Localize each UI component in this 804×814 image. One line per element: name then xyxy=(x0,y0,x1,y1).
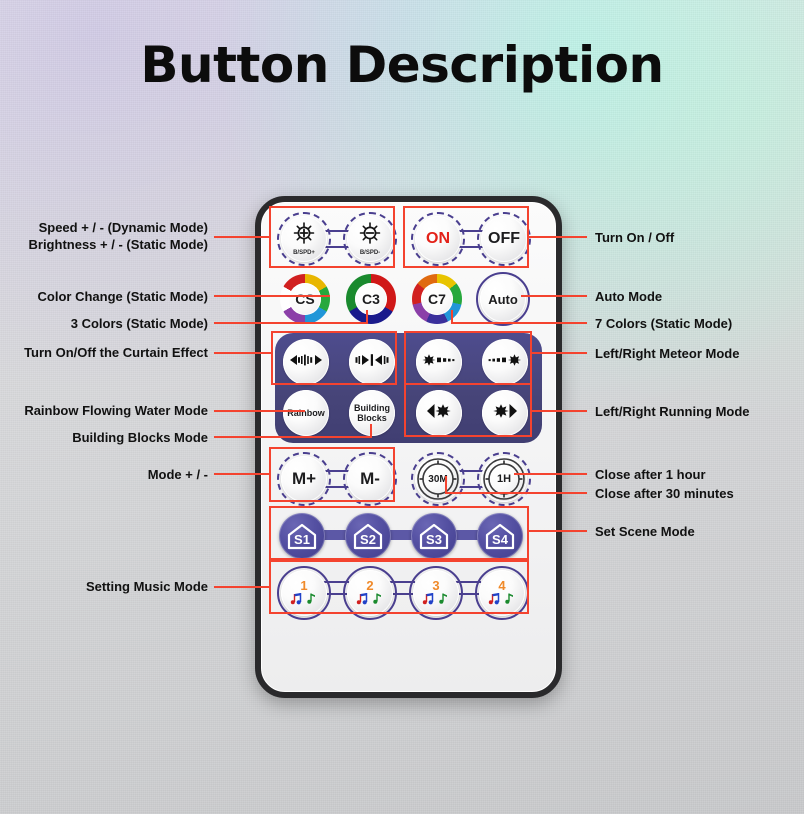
highlight-mode-group xyxy=(269,447,395,502)
callout-turn-on-off: Turn On / Off xyxy=(595,229,804,246)
callout-building-blocks: Building Blocks Mode xyxy=(0,429,208,446)
rainbow-button[interactable]: Rainbow xyxy=(283,390,329,436)
callout-auto-mode-line1: Auto Mode xyxy=(595,288,804,305)
timer-30m-button[interactable]: 30M xyxy=(415,456,461,502)
highlight-meteor-group xyxy=(404,331,532,385)
callout-curtain-effect-line1: Turn On/Off the Curtain Effect xyxy=(0,344,208,361)
callout-running-mode-line1: Left/Right Running Mode xyxy=(595,403,804,420)
callout-setting-music: Setting Music Mode xyxy=(0,578,208,595)
callout-close-30-min: Close after 30 minutes xyxy=(595,485,804,502)
callout-meteor-mode-line1: Left/Right Meteor Mode xyxy=(595,345,804,362)
callout-three-colors: 3 Colors (Static Mode) xyxy=(0,315,208,332)
leader-seven-colors xyxy=(452,322,587,324)
c3-label: C3 xyxy=(362,291,380,307)
callout-mode-plus-minus: Mode + / - xyxy=(0,466,208,483)
callout-speed-brightness-line2: Brightness + / - (Static Mode) xyxy=(0,236,208,253)
c7-button[interactable]: C7 xyxy=(412,274,462,324)
leader-rainbow xyxy=(214,410,305,412)
callout-set-scene: Set Scene Mode xyxy=(595,523,804,540)
callout-speed-brightness: Speed + / - (Dynamic Mode) Brightness + … xyxy=(0,219,208,253)
callout-seven-colors: 7 Colors (Static Mode) xyxy=(595,315,804,332)
c7-label: C7 xyxy=(428,291,446,307)
leader-curtain xyxy=(214,352,272,354)
highlight-scene-group xyxy=(269,506,529,560)
callout-rainbow-flowing: Rainbow Flowing Water Mode xyxy=(0,402,208,419)
timer-1h-label: 1H xyxy=(497,473,511,485)
leader-turn-on-off xyxy=(529,236,587,238)
callout-close-1-hour: Close after 1 hour xyxy=(595,466,804,483)
callout-rainbow-flowing-line1: Rainbow Flowing Water Mode xyxy=(0,402,208,419)
c3-hub: C3 xyxy=(355,283,387,315)
callout-turn-on-off-line1: Turn On / Off xyxy=(595,229,804,246)
leader-c7-vertical xyxy=(451,310,453,324)
callout-color-change: Color Change (Static Mode) xyxy=(0,288,208,305)
highlight-onoff-group xyxy=(403,206,529,268)
callout-mode-plus-minus-line1: Mode + / - xyxy=(0,466,208,483)
callout-seven-colors-line1: 7 Colors (Static Mode) xyxy=(595,315,804,332)
callout-close-1-hour-line1: Close after 1 hour xyxy=(595,466,804,483)
leader-color-change xyxy=(214,295,330,297)
leader-30m-vertical xyxy=(445,476,447,494)
leader-speed-brightness xyxy=(214,236,270,238)
callout-curtain-effect: Turn On/Off the Curtain Effect xyxy=(0,344,208,361)
callout-three-colors-line1: 3 Colors (Static Mode) xyxy=(0,315,208,332)
highlight-running-group xyxy=(404,383,532,437)
leader-c3-vertical xyxy=(366,310,368,324)
building-blocks-button[interactable]: Building Blocks xyxy=(349,390,395,436)
leader-three-colors xyxy=(214,322,367,324)
callout-building-blocks-line1: Building Blocks Mode xyxy=(0,429,208,446)
callout-close-30-min-line1: Close after 30 minutes xyxy=(595,485,804,502)
leader-close-1h xyxy=(514,473,587,475)
highlight-curtain-group xyxy=(271,331,397,385)
cs-hub: CS xyxy=(289,283,321,315)
leader-music xyxy=(214,586,271,588)
leader-building-blocks xyxy=(214,436,371,438)
callout-color-change-line1: Color Change (Static Mode) xyxy=(0,288,208,305)
callout-speed-brightness-line1: Speed + / - (Dynamic Mode) xyxy=(0,219,208,236)
c3-button[interactable]: C3 xyxy=(346,274,396,324)
leader-meteor xyxy=(531,352,587,354)
callout-auto-mode: Auto Mode xyxy=(595,288,804,305)
callout-set-scene-line1: Set Scene Mode xyxy=(595,523,804,540)
highlight-music-group xyxy=(269,560,529,614)
page-title: Button Description xyxy=(0,36,804,94)
leader-auto-mode xyxy=(521,295,587,297)
leader-close-30m xyxy=(446,492,587,494)
leader-mode xyxy=(214,473,270,475)
poster-background: Button Description xyxy=(0,0,804,814)
callout-running-mode: Left/Right Running Mode xyxy=(595,403,804,420)
cs-label: CS xyxy=(295,291,314,307)
highlight-speed-group xyxy=(269,206,395,268)
cs-button[interactable]: CS xyxy=(280,274,330,324)
auto-label: Auto xyxy=(488,292,518,307)
leader-building-vertical xyxy=(370,424,372,438)
auto-button[interactable]: Auto xyxy=(480,276,526,322)
callout-setting-music-line1: Setting Music Mode xyxy=(0,578,208,595)
c7-hub: C7 xyxy=(421,283,453,315)
leader-set-scene xyxy=(528,530,587,532)
building-blocks-label-line2: Blocks xyxy=(357,413,387,423)
callout-meteor-mode: Left/Right Meteor Mode xyxy=(595,345,804,362)
leader-running xyxy=(531,410,587,412)
timer-1h-button[interactable]: 1H xyxy=(481,456,527,502)
building-blocks-label-line1: Building xyxy=(354,403,390,413)
